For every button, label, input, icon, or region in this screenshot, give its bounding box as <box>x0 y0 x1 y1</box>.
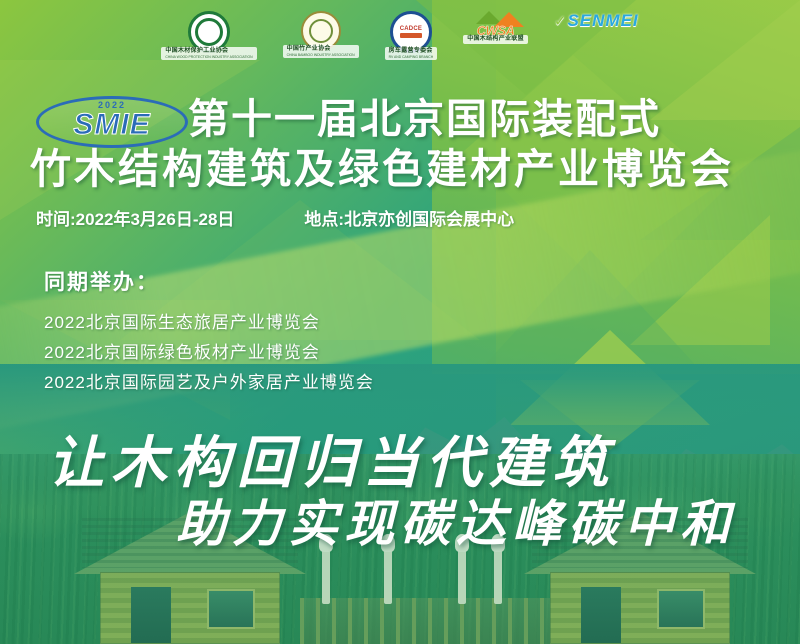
organizer-label: 中国竹产业协会 CHINA BAMBOO INDUSTRY ASSOCIATIO… <box>283 45 359 58</box>
house-roof-icon: CWSA <box>470 11 522 41</box>
organizer-subname: RV AND CAMPING BRANCH <box>389 55 434 59</box>
organizer-logo-cadce: CADCE 房车露营专委会 RV AND CAMPING BRANCH <box>385 11 438 67</box>
organizer-subname: CHINA BAMBOO INDUSTRY ASSOCIATION <box>287 53 355 57</box>
smie-badge-year: 2022 <box>98 100 126 110</box>
concurrent-events-heading: 同期举办： <box>44 266 374 296</box>
poster-title-line2: 竹木结构建筑及绿色建材产业博览会 <box>30 146 734 192</box>
organizer-logo-senmei: ✓SENMEI <box>554 11 639 67</box>
slogan-line2: 助力实现碳达峰碳中和 <box>176 484 736 556</box>
event-venue: 地点:北京亦创国际会展中心 <box>304 205 514 230</box>
event-date: 时间:2022年3月26日-28日 <box>36 205 234 230</box>
cadce-acronym: CADCE <box>400 26 422 32</box>
senmei-wordmark-icon: ✓SENMEI <box>554 11 639 31</box>
concurrent-event-item: 2022北京国际生态旅居产业博览会 <box>44 308 374 338</box>
organizer-subname: CHINA WOOD PROTECTION INDUSTRY ASSOCIATI… <box>165 55 252 59</box>
organizer-logo-bamboo: 中国竹产业协会 CHINA BAMBOO INDUSTRY ASSOCIATIO… <box>283 11 359 67</box>
poster-title-line1: 第十一届北京国际装配式 <box>188 96 661 142</box>
senmei-wordmark-text: SENMEI <box>567 11 638 30</box>
organizer-logo-cwsa: CWSA 中国木结构产业联盟 <box>463 11 528 67</box>
organizer-label: 中国木材保护工业协会 CHINA WOOD PROTECTION INDUSTR… <box>161 47 256 60</box>
organizer-logo-wood-protection: 中国木材保护工业协会 CHINA WOOD PROTECTION INDUSTR… <box>161 11 256 67</box>
event-meta: 时间:2022年3月26日-28日 地点:北京亦创国际会展中心 <box>36 205 514 230</box>
organizer-logo-strip: 中国木材保护工业协会 CHINA WOOD PROTECTION INDUSTR… <box>0 8 800 70</box>
exhibition-poster: 中国木材保护工业协会 CHINA WOOD PROTECTION INDUSTR… <box>0 0 800 644</box>
organizer-name: 中国木材保护工业协会 <box>165 48 228 54</box>
organizer-name: 房车露营专委会 <box>389 48 433 54</box>
concurrent-event-item: 2022北京国际绿色板材产业博览会 <box>44 338 374 368</box>
smie-badge: 2022 SMIE <box>36 96 188 148</box>
concurrent-event-item: 2022北京国际园艺及户外家居产业博览会 <box>44 368 374 398</box>
cwsa-acronym: CWSA <box>470 23 522 38</box>
organizer-name: 中国竹产业协会 <box>287 46 331 52</box>
organizer-label: 房车露营专委会 RV AND CAMPING BRANCH <box>385 47 438 60</box>
concurrent-events-block: 同期举办： 2022北京国际生态旅居产业博览会 2022北京国际绿色板材产业博览… <box>44 266 374 398</box>
